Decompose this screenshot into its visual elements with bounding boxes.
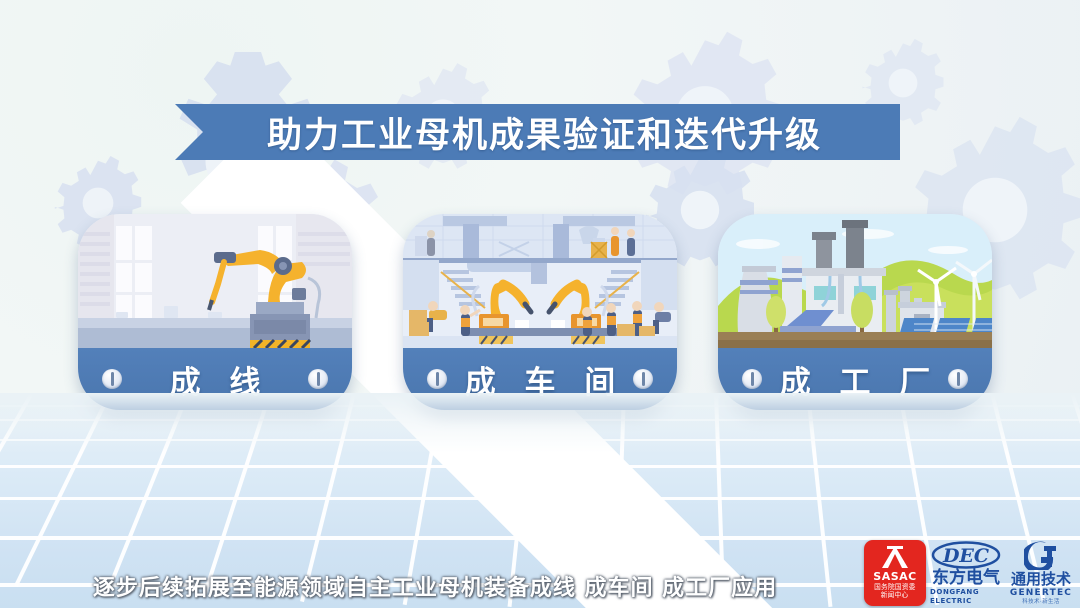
sasac-en-text: SASAC [873,571,916,583]
screw-icon [633,369,653,389]
workshop-illustration [403,214,677,348]
dec-logo: DEC 东方电气 DONGFANG ELECTRIC [930,540,1002,606]
sasac-cn-line1: 国务院国资委 [874,583,916,591]
card-factory[interactable]: 成 工 厂 [718,214,992,410]
screw-icon [427,369,447,389]
slide-canvas: 助力工业母机成果验证和迭代升级 [0,0,1080,608]
factory-illustration [718,214,992,348]
genertec-mark-icon [1024,540,1058,570]
screw-icon [742,369,762,389]
screw-icon [308,369,328,389]
genertec-en-text: GENERTEC [1010,588,1072,599]
dec-mark-icon: DEC [931,541,1001,569]
sasac-mark-icon [875,544,915,570]
logo-bar: SASAC 国务院国资委 新闻中心 DEC 东方电气 DONGFANG ELEC… [864,538,1076,606]
production-line-illustration [78,214,352,348]
screw-icon [948,369,968,389]
sasac-cn-line2: 新闻中心 [881,591,909,599]
card-production-line[interactable]: 成 线 [78,214,352,410]
card-row: 成 线 [0,214,1080,414]
genertec-tagline: 科技术·新生活 [1022,599,1060,606]
screw-icon [102,369,122,389]
sasac-logo: SASAC 国务院国资委 新闻中心 [864,540,926,606]
dec-cn-text: 东方电气 [932,569,1000,588]
genertec-logo: 通用技术 GENERTEC 科技术·新生活 [1006,538,1076,606]
svg-text:DEC: DEC [942,545,989,567]
dec-en-text: DONGFANG ELECTRIC [930,588,1002,606]
page-title: 助力工业母机成果验证和迭代升级 [175,104,900,160]
card-workshop[interactable]: 成 车 间 [403,214,677,410]
genertec-cn-text: 通用技术 [1011,571,1071,588]
title-banner: 助力工业母机成果验证和迭代升级 [175,104,900,160]
